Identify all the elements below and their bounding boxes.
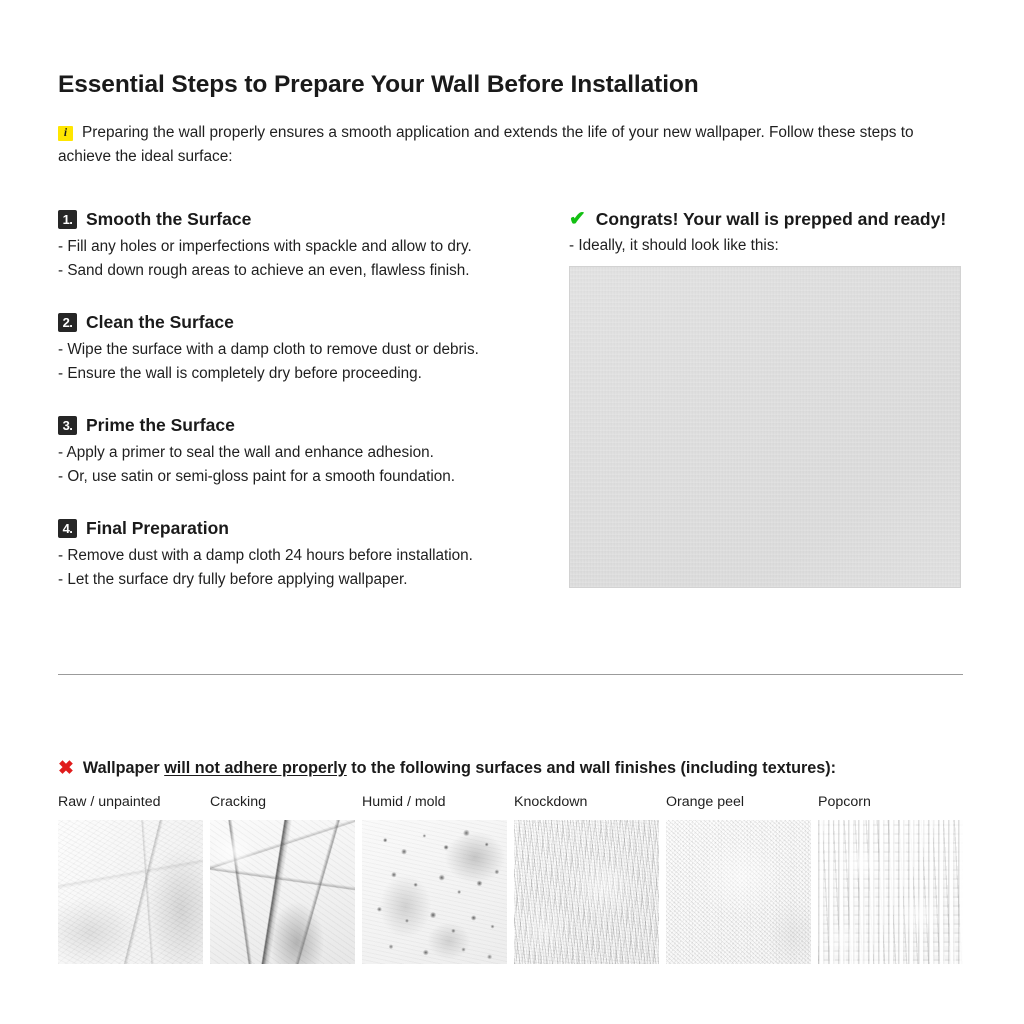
step-heading: 2. Clean the Surface bbox=[58, 311, 558, 333]
step-heading: 1. Smooth the Surface bbox=[58, 208, 558, 230]
info-icon: i bbox=[58, 126, 73, 141]
orange-peel-texture-image bbox=[666, 820, 811, 964]
step-bullet: - Ensure the wall is completely dry befo… bbox=[58, 362, 558, 386]
success-heading: ✔ Congrats! Your wall is prepped and rea… bbox=[569, 208, 964, 230]
step-number-badge: 1. bbox=[58, 210, 77, 229]
step-heading: 4. Final Preparation bbox=[58, 517, 558, 539]
prepped-wall-image bbox=[569, 266, 961, 588]
intro-paragraph: iPreparing the wall properly ensures a s… bbox=[58, 121, 968, 169]
step-bullet: - Remove dust with a damp cloth 24 hours… bbox=[58, 544, 558, 568]
warning-heading: ✖ Wallpaper will not adhere properly to … bbox=[58, 757, 964, 779]
knockdown-texture-image bbox=[514, 820, 659, 964]
step-bullet: - Apply a primer to seal the wall and en… bbox=[58, 441, 558, 465]
step-bullet: - Let the surface dry fully before apply… bbox=[58, 568, 558, 592]
bad-surface-item: Cracking bbox=[210, 793, 355, 964]
warning-text-after: to the following surfaces and wall finis… bbox=[347, 759, 836, 777]
bad-surface-item: Knockdown bbox=[514, 793, 659, 964]
success-subtext: - Ideally, it should look like this: bbox=[569, 234, 964, 258]
warning-text-before: Wallpaper bbox=[83, 759, 164, 777]
popcorn-texture-image bbox=[818, 820, 963, 964]
intro-text: Preparing the wall properly ensures a sm… bbox=[58, 124, 914, 165]
step-title: Prime the Surface bbox=[86, 414, 235, 436]
step-number-badge: 4. bbox=[58, 519, 77, 538]
bad-surface-label: Cracking bbox=[210, 793, 355, 811]
raw-unpainted-texture-image bbox=[58, 820, 203, 964]
step-item: 4. Final Preparation - Remove dust with … bbox=[58, 517, 558, 592]
bad-surface-label: Orange peel bbox=[666, 793, 811, 811]
check-icon: ✔ bbox=[569, 209, 586, 229]
warning-text: Wallpaper will not adhere properly to th… bbox=[83, 757, 836, 779]
step-title: Final Preparation bbox=[86, 517, 229, 539]
step-title: Clean the Surface bbox=[86, 311, 234, 333]
section-divider bbox=[58, 674, 963, 675]
step-bullet: - Or, use satin or semi-gloss paint for … bbox=[58, 465, 558, 489]
success-column: ✔ Congrats! Your wall is prepped and rea… bbox=[569, 208, 964, 588]
step-bullet: - Wipe the surface with a damp cloth to … bbox=[58, 338, 558, 362]
step-bullet: - Sand down rough areas to achieve an ev… bbox=[58, 259, 558, 283]
step-number-badge: 2. bbox=[58, 313, 77, 332]
step-bullet: - Fill any holes or imperfections with s… bbox=[58, 235, 558, 259]
bad-surface-item: Raw / unpainted bbox=[58, 793, 203, 964]
guide-page: Essential Steps to Prepare Your Wall Bef… bbox=[58, 0, 964, 1024]
humid-mold-texture-image bbox=[362, 820, 507, 964]
bad-surface-label: Popcorn bbox=[818, 793, 963, 811]
bad-surface-item: Humid / mold bbox=[362, 793, 507, 964]
step-number-badge: 3. bbox=[58, 416, 77, 435]
success-heading-text: Congrats! Your wall is prepped and ready… bbox=[596, 208, 946, 230]
bad-surfaces-section: ✖ Wallpaper will not adhere properly to … bbox=[58, 757, 964, 779]
bad-surface-label: Humid / mold bbox=[362, 793, 507, 811]
step-heading: 3. Prime the Surface bbox=[58, 414, 558, 436]
bad-surface-thumbnails: Raw / unpainted Cracking Humid / mold Kn… bbox=[58, 793, 964, 964]
bad-surface-label: Raw / unpainted bbox=[58, 793, 203, 811]
x-icon: ✖ bbox=[58, 759, 74, 778]
warning-text-underlined: will not adhere properly bbox=[164, 759, 347, 777]
bad-surface-label: Knockdown bbox=[514, 793, 659, 811]
page-title: Essential Steps to Prepare Your Wall Bef… bbox=[58, 71, 699, 99]
step-title: Smooth the Surface bbox=[86, 208, 251, 230]
step-item: 2. Clean the Surface - Wipe the surface … bbox=[58, 311, 558, 386]
step-item: 1. Smooth the Surface - Fill any holes o… bbox=[58, 208, 558, 283]
step-item: 3. Prime the Surface - Apply a primer to… bbox=[58, 414, 558, 489]
cracking-texture-image bbox=[210, 820, 355, 964]
steps-column: 1. Smooth the Surface - Fill any holes o… bbox=[58, 208, 558, 592]
bad-surface-item: Orange peel bbox=[666, 793, 811, 964]
bad-surface-item: Popcorn bbox=[818, 793, 963, 964]
